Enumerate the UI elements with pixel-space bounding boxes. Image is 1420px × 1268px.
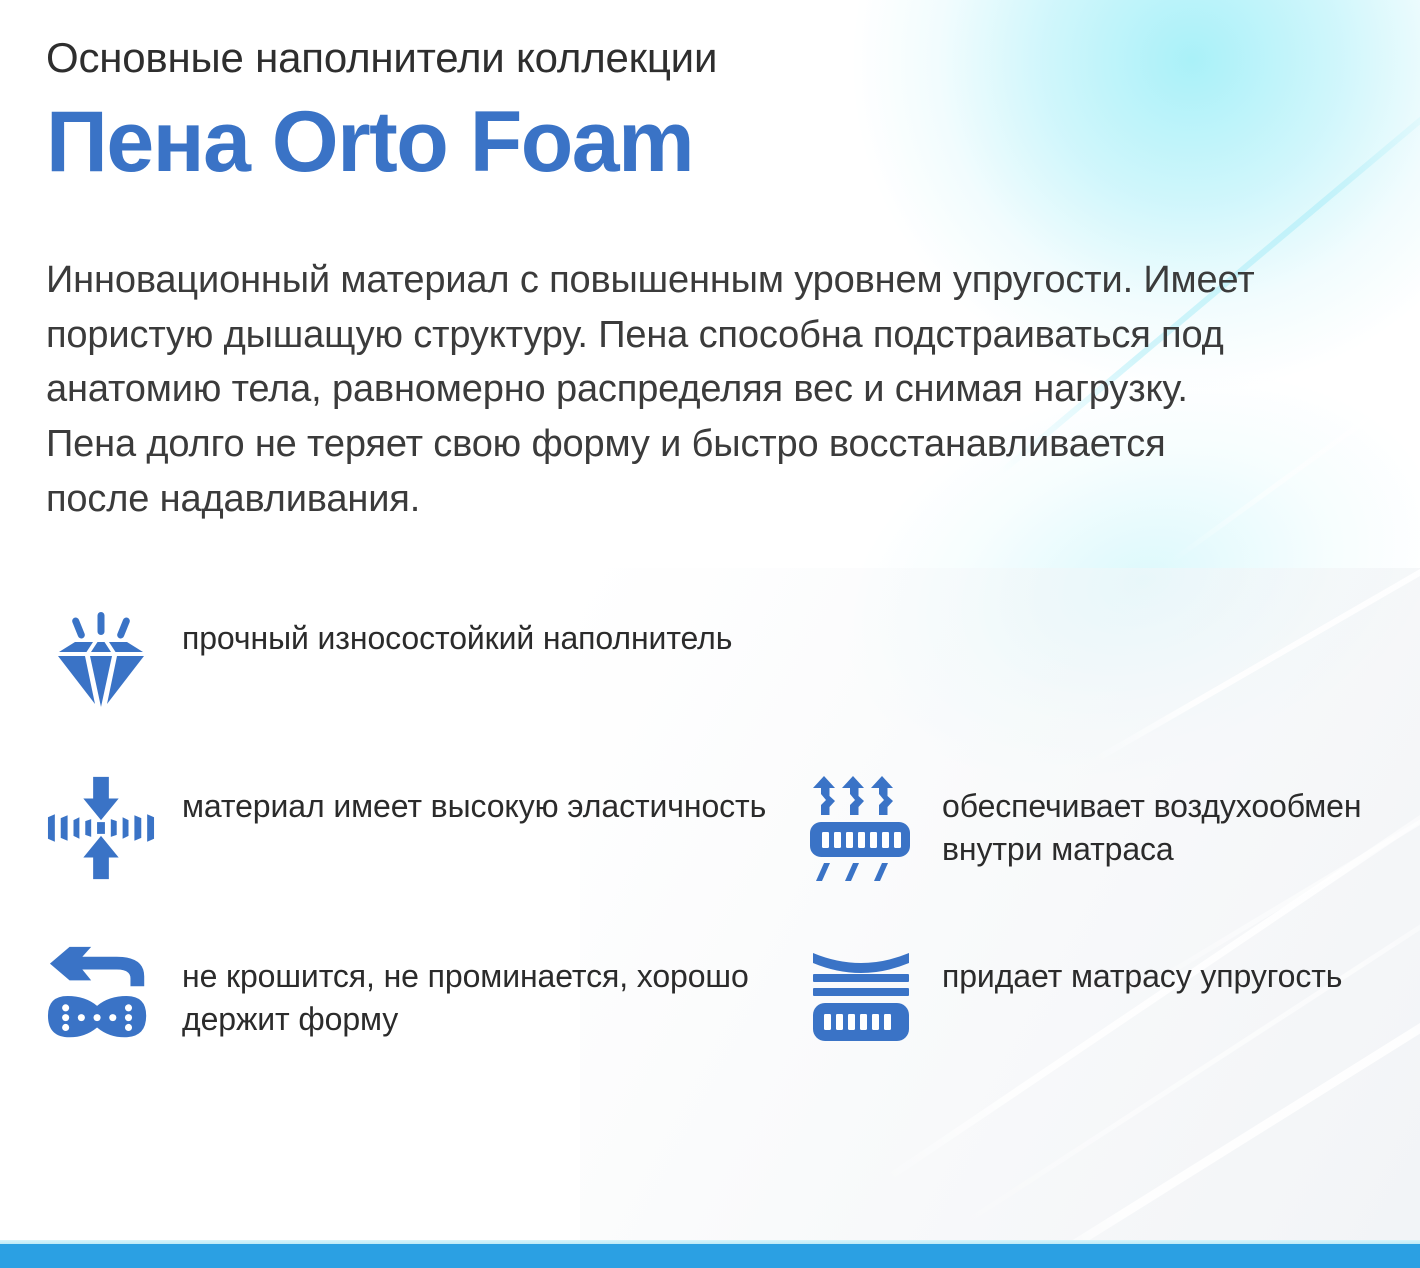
feature-row: материал имеет высокую эластичность bbox=[46, 773, 1396, 883]
feature-label: придает матрасу упругость bbox=[942, 943, 1342, 998]
diamond-icon bbox=[46, 605, 156, 715]
feature-grid: прочный износостойкий наполнитель bbox=[46, 605, 1396, 1053]
feature-item-durable: прочный износостойкий наполнитель bbox=[46, 605, 806, 715]
slide-content: Основные наполнители коллекции Пена Orto… bbox=[0, 0, 1420, 1053]
feature-label: материал имеет высокую эластичность bbox=[182, 773, 766, 828]
feature-item-shape: не крошится, не проминается, хорошо держ… bbox=[46, 943, 806, 1053]
shape-recovery-icon bbox=[46, 943, 156, 1053]
feature-label: обеспечивает воздухообмен внутри матраса bbox=[942, 773, 1366, 871]
intro-paragraph: Инновационный материал с повышенным уров… bbox=[46, 253, 1261, 527]
feature-label: прочный износостойкий наполнитель bbox=[182, 605, 732, 660]
feature-label: не крошится, не проминается, хорошо держ… bbox=[182, 943, 806, 1041]
feature-row: прочный износостойкий наполнитель bbox=[46, 605, 1396, 715]
feature-item-springy: придает матрасу упругость bbox=[806, 943, 1366, 1053]
airflow-mattress-icon bbox=[806, 773, 916, 883]
compression-arrows-icon bbox=[46, 773, 156, 883]
feature-item-elastic: материал имеет высокую эластичность bbox=[46, 773, 806, 883]
bottom-bar bbox=[0, 1244, 1420, 1268]
feature-row: не крошится, не проминается, хорошо держ… bbox=[46, 943, 1396, 1053]
infographic-slide: Основные наполнители коллекции Пена Orto… bbox=[0, 0, 1420, 1268]
springy-mattress-icon bbox=[806, 943, 916, 1053]
feature-item-airflow: обеспечивает воздухообмен внутри матраса bbox=[806, 773, 1366, 883]
eyebrow-subtitle: Основные наполнители коллекции bbox=[46, 34, 1420, 81]
page-title: Пена Orto Foam bbox=[46, 99, 1420, 185]
